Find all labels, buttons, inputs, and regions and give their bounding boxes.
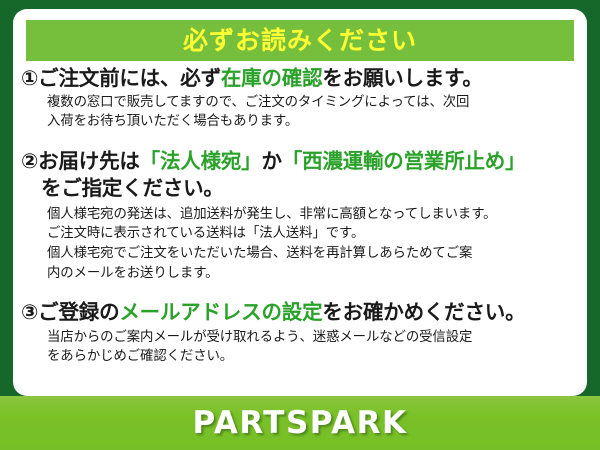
notice-panel: 必ずお読みください ①ご注文前には、必ず在庫の確認をお願いします。 複数の窓口で… <box>13 9 587 396</box>
notice-banner: 必ずお読みください ①ご注文前には、必ず在庫の確認をお願いします。 複数の窓口で… <box>0 0 600 450</box>
item-1-heading-highlight: 在庫の確認 <box>221 66 323 90</box>
notice-item-3: ③ご登録のメールアドレスの設定をお確かめください。 当店からのご案内メールが受け… <box>21 299 579 367</box>
brand-footer: PARTSPARK <box>0 396 600 450</box>
item-2-heading-part-1: お届け先は <box>38 149 140 173</box>
item-2-heading-highlight-2: 「西濃運輸の営業所止め」 <box>282 149 526 173</box>
item-3-marker: ③ <box>21 300 38 324</box>
item-1-heading-part-3: をお願いします。 <box>322 66 482 90</box>
item-3-body-line-1: 当店からのご案内メールが受け取れるよう、迷惑メールなどの受信設定 <box>47 328 579 348</box>
item-2-heading-highlight-1: 「法人様宛」 <box>140 149 262 173</box>
item-1-body-line-2: 入荷をお待ち頂いただく場合もあります。 <box>47 112 579 132</box>
item-1-body: 複数の窓口で販売してますので、ご注文のタイミングによっては、次回 入荷をお待ち頂… <box>21 93 579 133</box>
item-1-heading-part-1: ご注文前には、必ず <box>38 66 221 90</box>
title-bar: 必ずお読みください <box>26 20 574 61</box>
item-2-body-line-3: 個人様宅宛でご注文をいただいた場合、送料を再計算しあらためてご案 <box>47 244 579 264</box>
item-3-heading-highlight: メールアドレスの設定 <box>119 300 322 324</box>
item-2-heading-part-3: か <box>261 149 281 173</box>
item-3-body-line-2: をあらかじめご確認ください。 <box>47 347 579 367</box>
item-1-body-line-1: 複数の窓口で販売してますので、ご注文のタイミングによっては、次回 <box>47 93 579 113</box>
item-2-heading: ②お届け先は「法人様宛」か「西濃運輸の営業所止め」 <box>21 148 579 175</box>
item-2-body: 個人様宅宛の発送は、追加送料が発生し、非常に高額となってしまいます。 ご注文時に… <box>21 205 579 284</box>
item-3-body: 当店からのご案内メールが受け取れるよう、迷惑メールなどの受信設定 をあらかじめご… <box>21 328 579 368</box>
item-2-body-line-1: 個人様宅宛の発送は、追加送料が発生し、非常に高額となってしまいます。 <box>47 205 579 225</box>
item-1-heading: ①ご注文前には、必ず在庫の確認をお願いします。 <box>21 65 579 92</box>
item-3-heading-part-3: をお確かめください。 <box>322 300 525 324</box>
brand-name: PARTSPARK <box>192 408 407 439</box>
item-2-body-line-4: 内のメールをお送りします。 <box>47 264 579 284</box>
item-3-heading-part-1: ご登録の <box>38 300 119 324</box>
item-2-heading-line-2: をご指定ください。 <box>21 175 579 202</box>
item-2-body-line-2: ご注文時に表示されている送料は「法人送料」です。 <box>47 224 579 244</box>
item-3-heading: ③ご登録のメールアドレスの設定をお確かめください。 <box>21 299 579 326</box>
item-1-marker: ① <box>21 66 38 90</box>
item-2-marker: ② <box>21 149 38 173</box>
notice-item-1: ①ご注文前には、必ず在庫の確認をお願いします。 複数の窓口で販売してますので、ご… <box>21 65 579 132</box>
notice-content: ①ご注文前には、必ず在庫の確認をお願いします。 複数の窓口で販売してますので、ご… <box>13 65 587 369</box>
page-title: 必ずお読みください <box>183 28 417 53</box>
notice-item-2: ②お届け先は「法人様宛」か「西濃運輸の営業所止め」 をご指定ください。 個人様宅… <box>21 148 579 284</box>
